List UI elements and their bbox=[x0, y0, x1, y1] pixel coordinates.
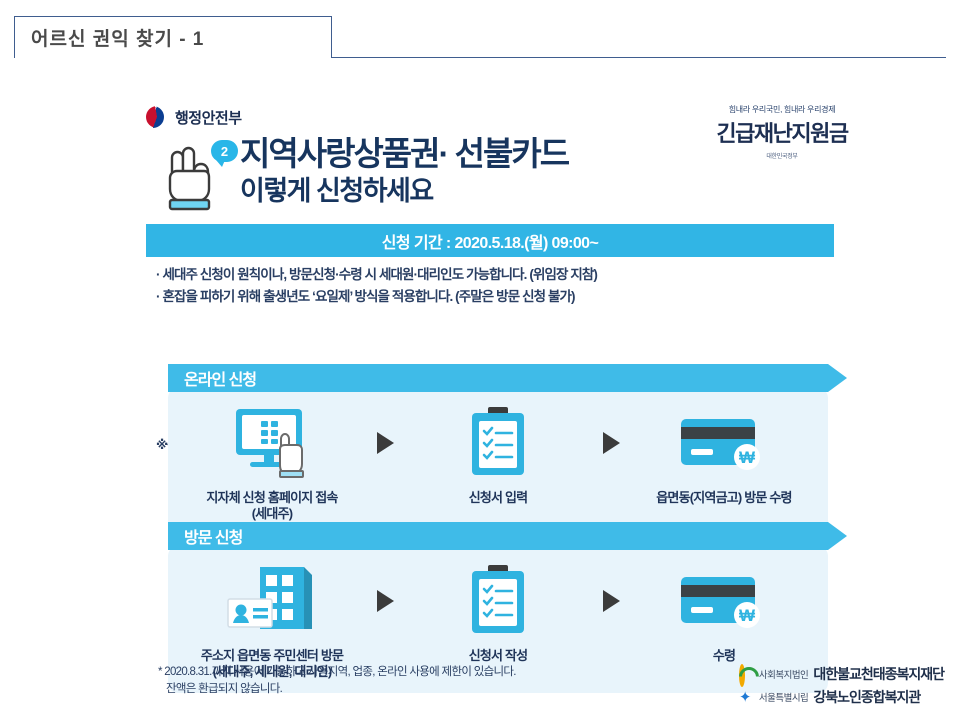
section-label: 온라인 신청 bbox=[184, 366, 256, 390]
seoul-mark-icon: ✦ bbox=[739, 690, 754, 705]
section-ribbon: 방문 신청 bbox=[168, 522, 828, 550]
footer-logo-item: 사회복지법인 대한불교천태종복지재단 bbox=[739, 664, 944, 684]
flow-step: 신청서 입력 bbox=[408, 404, 588, 506]
flow-step-caption: 수령 bbox=[634, 648, 814, 664]
clipboard-checklist-icon bbox=[408, 404, 588, 482]
flow-step: ₩ 수령 bbox=[634, 562, 814, 664]
footer-logo-item: ✦ 서울특별시립 강북노인종합복지관 bbox=[739, 687, 944, 707]
section-steps: 지자체 신청 홈페이지 접속 (세대주) bbox=[168, 388, 828, 535]
bullet-item: · 혼잡을 피하기 위해 출생년도 ‘요일제’ 방식을 적용합니다. (주말은 … bbox=[156, 286, 856, 308]
section-ribbon: 온라인 신청 bbox=[168, 364, 828, 392]
flow-step-caption: 지자체 신청 홈페이지 접속 (세대주) bbox=[182, 490, 362, 523]
headline-line-2: 이렇게 신청하세요 bbox=[240, 176, 568, 207]
slide-title-tab: 어르신 권익 찾기 - 1 bbox=[14, 16, 332, 58]
flow-arrow-icon bbox=[588, 562, 634, 640]
flow-step-caption: 신청서 입력 bbox=[408, 490, 588, 506]
headline: 지역사랑상품권· 선불카드 이렇게 신청하세요 bbox=[240, 136, 568, 207]
page-title: 어르신 권익 찾기 - 1 bbox=[15, 24, 204, 51]
prepaid-card-won-icon: ₩ bbox=[634, 404, 814, 482]
application-period-text: 신청 기간 : 2020.5.18.(월) 09:00~ bbox=[382, 229, 598, 253]
footnote-line-1: * 2020.8.31.까지 사용이 가능하고 사용지역, 업종, 온라인 사용… bbox=[158, 664, 678, 681]
svg-text:₩: ₩ bbox=[739, 448, 756, 467]
footer-logos: 사회복지법인 대한불교천태종복지재단 ✦ 서울특별시립 강북노인종합복지관 bbox=[739, 664, 944, 710]
footer-logo-prefix: 사회복지법인 bbox=[759, 667, 808, 681]
community-center-id-icon bbox=[182, 562, 362, 640]
flow-step-caption: 읍면동(지역금고) 방문 수령 bbox=[634, 490, 814, 506]
infographic-image: 행정안전부 힘내라 우리국민, 힘내라 우리경제 긴급재난지원금 대한민국정부 … bbox=[0, 92, 960, 720]
prepaid-card-won-icon: ₩ bbox=[634, 562, 814, 640]
taegeuk-icon bbox=[142, 106, 168, 128]
ring-logo-icon bbox=[739, 667, 754, 682]
footnote: * 2020.8.31.까지 사용이 가능하고 사용지역, 업종, 온라인 사용… bbox=[158, 664, 678, 699]
headline-line-1: 지역사랑상품권· 선불카드 bbox=[240, 136, 568, 172]
bullet-item: · 세대주 신청이 원칙이나, 방문신청·수령 시 세대원·대리인도 가능합니다… bbox=[156, 264, 856, 286]
flow-arrow-icon bbox=[588, 404, 634, 482]
gov-logo-label: 행정안전부 bbox=[175, 107, 242, 128]
flow-step: 주소지 읍면동 주민센터 방문 (세대주, 세대원, 대리인) bbox=[182, 562, 362, 681]
gov-logo: 행정안전부 bbox=[142, 106, 242, 128]
flow-step: ₩ 읍면동(지역금고) 방문 수령 bbox=[634, 404, 814, 506]
monitor-cursor-icon bbox=[182, 404, 362, 482]
emergency-fund-logo: 힘내라 우리국민, 힘내라 우리경제 긴급재난지원금 대한민국정부 bbox=[702, 104, 862, 160]
step-number-badge: 2 bbox=[211, 140, 238, 162]
section-online-application: 온라인 신청 bbox=[168, 364, 828, 535]
bullet-list: · 세대주 신청이 원칙이나, 방문신청·수령 시 세대원·대리인도 가능합니다… bbox=[156, 264, 856, 308]
flow-arrow-icon bbox=[362, 562, 408, 640]
flow-arrow-icon bbox=[362, 404, 408, 482]
footer-logo-prefix: 서울특별시립 bbox=[759, 690, 808, 704]
svg-text:₩: ₩ bbox=[739, 606, 756, 625]
clipboard-checklist-icon bbox=[408, 562, 588, 640]
slide-canvas: 어르신 권익 찾기 - 1 행정안전부 힘내라 우리국민, 힘내라 우리경제 긴… bbox=[0, 0, 960, 720]
flow-step: 지자체 신청 홈페이지 접속 (세대주) bbox=[182, 404, 362, 523]
title-divider bbox=[331, 57, 946, 58]
flow-step: 신청서 작성 bbox=[408, 562, 588, 664]
emergency-slogan: 힘내라 우리국민, 힘내라 우리경제 bbox=[702, 104, 862, 115]
footnote-line-2: 잔액은 환급되지 않습니다. bbox=[158, 681, 678, 698]
footer-logo-name: 강북노인종합복지관 bbox=[813, 687, 920, 707]
hand-two-fingers-icon: 2 bbox=[160, 138, 236, 212]
flow-step-caption: 신청서 작성 bbox=[408, 648, 588, 664]
emergency-sub: 대한민국정부 bbox=[702, 151, 862, 160]
application-period-banner: 신청 기간 : 2020.5.18.(월) 09:00~ bbox=[146, 224, 834, 257]
footer-logo-name: 대한불교천태종복지재단 bbox=[813, 664, 944, 684]
section-label: 방문 신청 bbox=[184, 524, 242, 548]
emergency-title: 긴급재난지원금 bbox=[702, 116, 862, 148]
